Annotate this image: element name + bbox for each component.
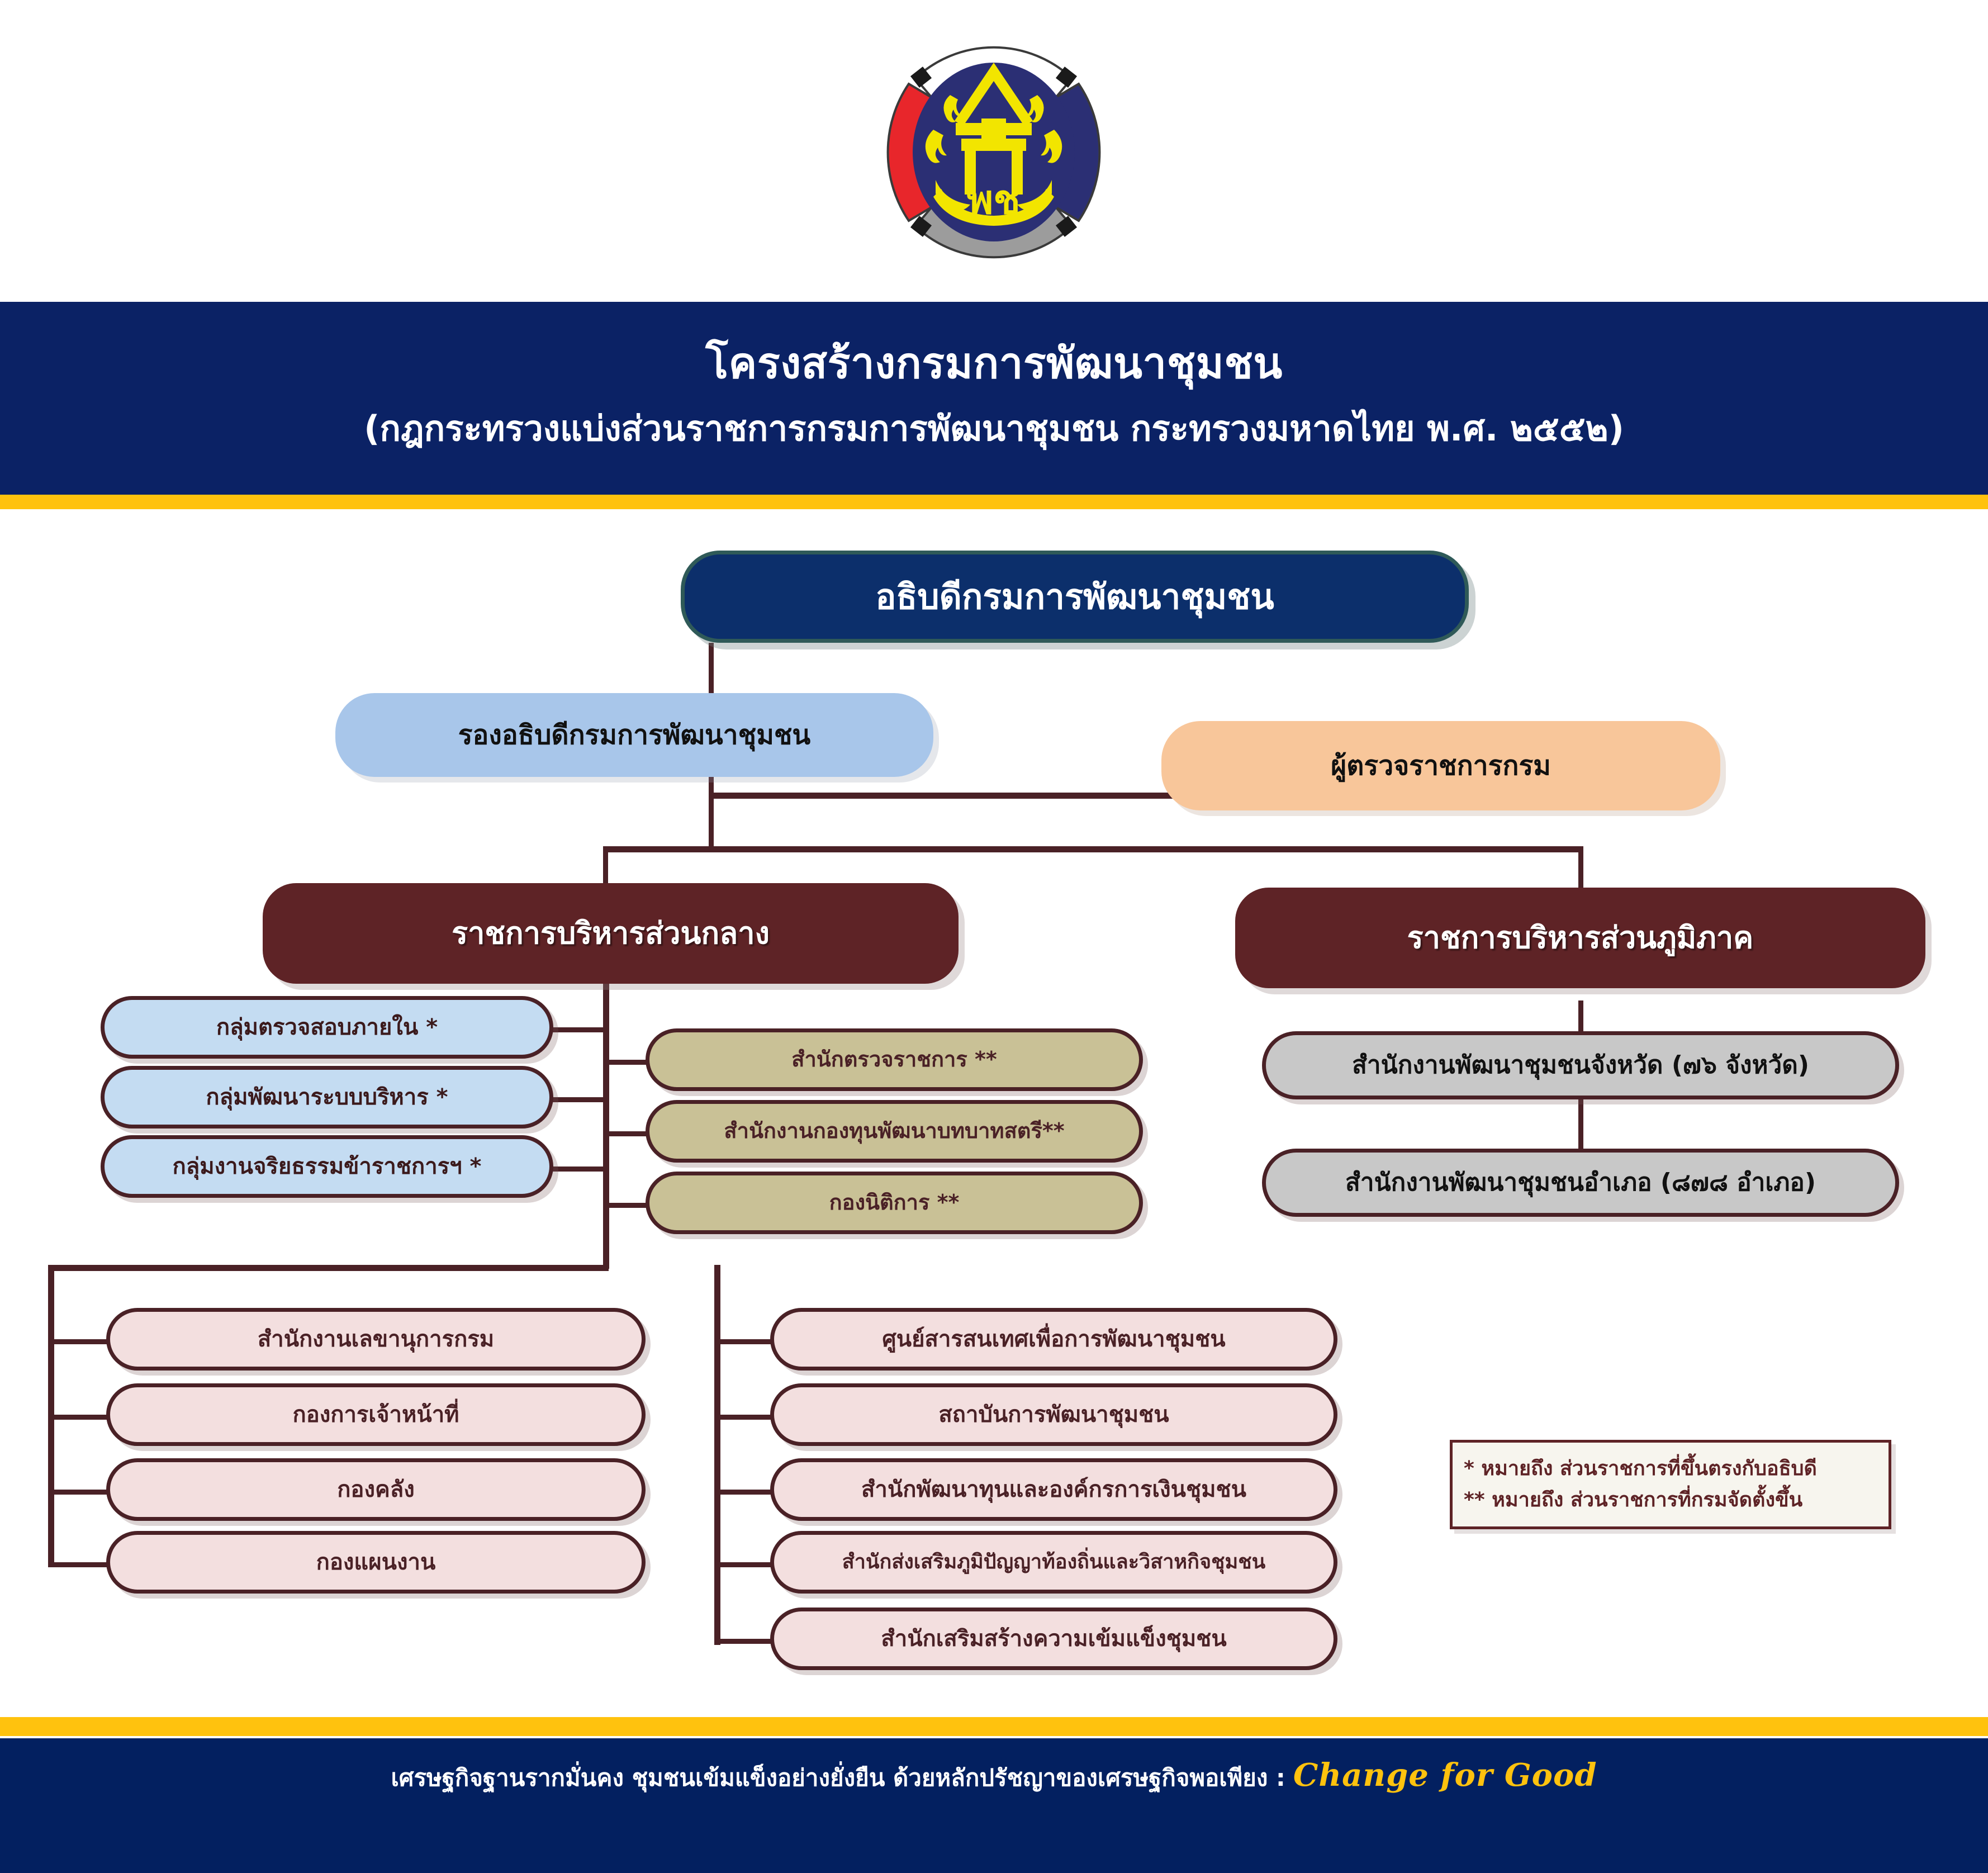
connector-division-bracket-top <box>48 1265 609 1271</box>
node-finance-division[interactable]: กองคลัง <box>106 1458 646 1521</box>
footer-motto-row: เศรษฐกิจฐานรากมั่นคง ชุมชนเข้มแข็งอย่างย… <box>0 1757 1988 1796</box>
node-community-development-institute[interactable]: สถาบันการพัฒนาชุมชน <box>770 1383 1337 1446</box>
node-community-strengthening-bureau[interactable]: สำนักเสริมสร้างความเข้มแข็งชุมชน <box>770 1608 1337 1670</box>
connector-division-right-rail <box>714 1265 720 1645</box>
connector-div-left-1 <box>48 1339 110 1344</box>
connector-blue-1 <box>553 1027 609 1032</box>
node-district-cdd-office[interactable]: สำนักงานพัฒนาชุมชนอำเภอ (๘๗๘ อำเภอ) <box>1262 1149 1899 1217</box>
node-personnel-division[interactable]: กองการเจ้าหน้าที่ <box>106 1383 646 1446</box>
node-planning-division[interactable]: กองแผนงาน <box>106 1531 646 1594</box>
connector-div-right-5 <box>714 1639 772 1644</box>
connector-div-right-1 <box>714 1339 772 1344</box>
node-provincial-cdd-office[interactable]: สำนักงานพัฒนาชุมชนจังหวัด (๗๖ จังหวัด) <box>1262 1031 1899 1099</box>
connector-div-left-3 <box>48 1490 110 1495</box>
node-office-of-the-secretary[interactable]: สำนักงานเลขานุการกรม <box>106 1308 646 1371</box>
node-central-administration[interactable]: ราชการบริหารส่วนกลาง <box>263 883 959 984</box>
footer-motto: เศรษฐกิจฐานรากมั่นคง ชุมชนเข้มแข็งอย่างย… <box>391 1764 1285 1791</box>
connector-inspector-stub <box>709 793 1181 799</box>
footer-gold-accent <box>0 1717 1988 1736</box>
node-community-capital-and-finance-bureau[interactable]: สำนักพัฒนาทุนและองค์กรการเงินชุมชน <box>770 1458 1337 1521</box>
legend-box: * หมายถึง ส่วนราชการที่ขึ้นตรงกับอธิบดี … <box>1450 1440 1891 1529</box>
connector-div-right-3 <box>714 1490 772 1495</box>
node-local-wisdom-and-enterprise-bureau[interactable]: สำนักส่งเสริมภูมิปัญญาท้องถิ่นและวิสาหกิ… <box>770 1531 1337 1594</box>
node-community-development-information-center[interactable]: ศูนย์สารสนเทศเพื่อการพัฒนาชุมชน <box>770 1308 1337 1371</box>
legend-line-2: ** หมายถึง ส่วนราชการที่กรมจัดตั้งขึ้น <box>1464 1485 1877 1516</box>
node-womens-development-fund-office[interactable]: สำนักงานกองทุนพัฒนาบทบาทสตรี** <box>646 1100 1143 1163</box>
connector-central-rail <box>603 984 609 1269</box>
connector-tan-1 <box>605 1060 649 1065</box>
connector-div-right-4 <box>714 1562 772 1567</box>
connector-blue-3 <box>553 1167 609 1172</box>
node-director-general[interactable]: อธิบดีกรมการพัฒนาชุมชน <box>681 551 1469 643</box>
footer-slogan: Change for Good <box>1285 1757 1597 1794</box>
node-legal-affairs-division[interactable]: กองนิติการ ** <box>646 1172 1143 1234</box>
node-civil-servant-ethics-group[interactable]: กลุ่มงานจริยธรรมข้าราชการฯ * <box>101 1135 553 1198</box>
cdd-emblem-logo: พช <box>832 11 1156 291</box>
connector-div-left-2 <box>48 1415 110 1420</box>
connector-tan-2 <box>605 1131 649 1136</box>
emblem-text: พช <box>967 176 1021 223</box>
node-bureau-of-inspection[interactable]: สำนักตรวจราชการ ** <box>646 1028 1143 1091</box>
connector-tan-3 <box>605 1203 649 1208</box>
legend-line-1: * หมายถึง ส่วนราชการที่ขึ้นตรงกับอธิบดี <box>1464 1453 1877 1485</box>
node-internal-audit-group[interactable]: กลุ่มตรวจสอบภายใน * <box>101 996 553 1059</box>
node-regional-administration[interactable]: ราชการบริหารส่วนภูมิภาค <box>1235 888 1925 988</box>
page-subtitle: (กฎกระทรวงแบ่งส่วนราชการกรมการพัฒนาชุมชน… <box>0 401 1988 456</box>
header-gold-accent <box>0 495 1988 509</box>
node-deputy-director-general[interactable]: รองอธิบดีกรมการพัฒนาชุมชน <box>335 693 933 777</box>
page-title: โครงสร้างกรมการพัฒนาชุมชน <box>0 330 1988 397</box>
connector-split-bar <box>605 846 1581 852</box>
connector-div-left-4 <box>48 1562 110 1567</box>
node-admin-system-development-group[interactable]: กลุ่มพัฒนาระบบบริหาร * <box>101 1066 553 1128</box>
node-department-inspector[interactable]: ผู้ตรวจราชการกรม <box>1161 721 1720 810</box>
connector-div-right-2 <box>714 1415 772 1420</box>
org-chart-page: พช โครงสร้างกรมการพัฒนาชุมชน (กฎกระทรวงแ… <box>0 0 1988 1873</box>
connector-blue-2 <box>553 1097 609 1102</box>
